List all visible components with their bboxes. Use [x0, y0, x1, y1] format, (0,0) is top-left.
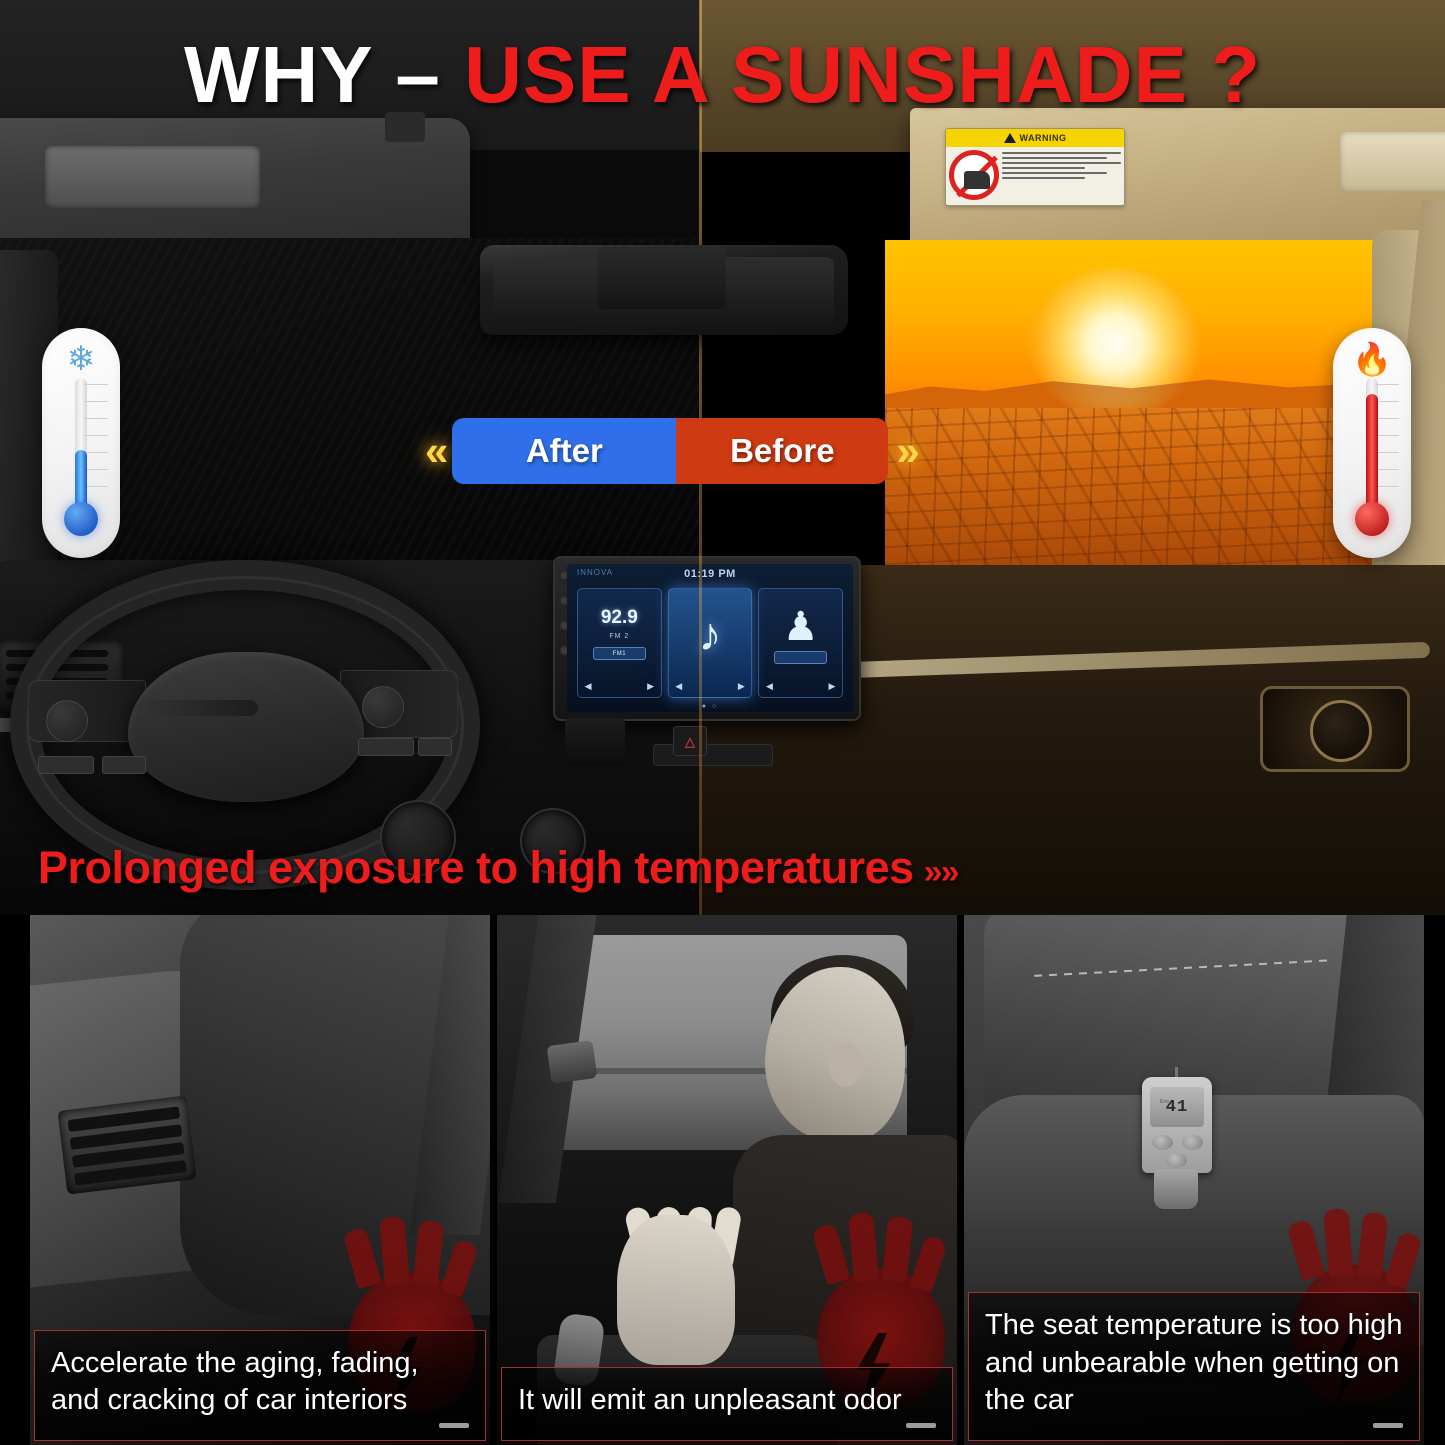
- steering-control-pad-left: [46, 700, 88, 742]
- mid-headline-text: Prolonged exposure to high temperatures: [38, 842, 914, 893]
- media-controls[interactable]: ◀ ▶: [675, 681, 744, 692]
- chevron-left-icon: «: [425, 430, 444, 472]
- mid-headline-arrows-icon: »»: [924, 853, 958, 891]
- radio-seek-controls[interactable]: ◀ ▶: [585, 681, 654, 692]
- radio-band: FM 2: [578, 633, 661, 640]
- infotainment-status-bar: 01:19 PM: [567, 564, 853, 584]
- panel-interior-aging: Accelerate the aging, fading, and cracki…: [30, 915, 490, 1445]
- page-title: WHY – USE A SUNSHADE ?: [0, 0, 1445, 150]
- radio-next-icon[interactable]: ▶: [647, 681, 654, 692]
- air-vent-right-inner: [1310, 700, 1372, 762]
- panel-3-caption: The seat temperature is too high and unb…: [985, 1307, 1403, 1420]
- steering-control-pad-right: [362, 686, 404, 728]
- person-hand-2: [617, 1215, 735, 1365]
- cold-thermometer-bulb: [64, 502, 98, 536]
- hot-thermometer: 🔥: [1333, 328, 1411, 558]
- person-ear-2: [829, 1043, 863, 1087]
- warning-label-body: [946, 147, 1124, 203]
- steering-button-b: [102, 756, 146, 774]
- mid-headline: Prolonged exposure to high temperatures»…: [38, 842, 957, 894]
- hot-thermometer-fill: [1366, 394, 1378, 516]
- infotainment-screen[interactable]: INNOVA 01:19 PM 92.9 FM 2 FM1 ◀ ▶: [567, 564, 853, 712]
- profile-tile[interactable]: ♟ ◀ ▶: [758, 588, 843, 698]
- thermometer-button-2[interactable]: [1182, 1135, 1203, 1150]
- cold-thermometer: ❄: [42, 328, 120, 558]
- steering-button-a: [38, 756, 94, 774]
- steering-button-d: [418, 738, 452, 756]
- no-child-seat-icon: [949, 150, 999, 200]
- thermometer-grip: [1154, 1169, 1198, 1209]
- caption-dash-2: [906, 1423, 936, 1428]
- warning-label-text-lines: [1002, 150, 1121, 200]
- panel-1-caption-box: Accelerate the aging, fading, and cracki…: [34, 1330, 486, 1441]
- steering-button-c: [358, 738, 414, 756]
- snowflake-icon: ❄: [42, 342, 120, 376]
- caption-dash-1: [439, 1423, 469, 1428]
- rearview-mirror: [480, 245, 848, 335]
- radio-preset-chip[interactable]: FM1: [593, 647, 646, 660]
- radio-tile[interactable]: 92.9 FM 2 FM1 ◀ ▶: [577, 588, 662, 698]
- infrared-thermometer: Emi 41: [1142, 1077, 1212, 1197]
- profile-next-icon[interactable]: ▶: [828, 681, 835, 692]
- page-title-white: WHY –: [184, 30, 441, 119]
- console-mount: [565, 718, 625, 766]
- turn-signal-stalk: [138, 700, 258, 716]
- consequence-panels: Accelerate the aging, fading, and cracki…: [0, 915, 1445, 1445]
- visor-mirror-left: [45, 146, 260, 208]
- infographic-page: WARNING: [0, 0, 1445, 1445]
- hot-thermometer-bulb: [1355, 502, 1389, 536]
- before-label: Before: [676, 418, 888, 484]
- media-next-icon[interactable]: ▶: [738, 681, 745, 692]
- panel-unpleasant-odor: It will emit an unpleasant odor: [497, 915, 957, 1445]
- thermometer-body: Emi 41: [1142, 1077, 1212, 1173]
- thermometer-button-1[interactable]: [1152, 1135, 1173, 1150]
- rearview-mirror-housing: [598, 247, 726, 309]
- flame-icon: 🔥: [1333, 342, 1411, 376]
- radio-frequency: 92.9: [578, 607, 661, 629]
- console-control-row[interactable]: [653, 744, 773, 766]
- page-indicator-dots: ● ○: [567, 703, 853, 710]
- page-title-red: USE A SUNSHADE ?: [464, 30, 1261, 119]
- thermometer-display: Emi 41: [1150, 1087, 1204, 1127]
- panel-2-photo: [497, 915, 957, 1445]
- profile-prev-icon[interactable]: ◀: [766, 681, 773, 692]
- panel-seat-temperature: Emi 41 The se: [964, 915, 1424, 1445]
- panel-2-caption-box: It will emit an unpleasant odor: [501, 1367, 953, 1441]
- steering-wheel-hub: [128, 652, 364, 802]
- hero-comparison-image: WARNING: [0, 0, 1445, 915]
- media-tile[interactable]: ♪ ◀ ▶: [668, 588, 753, 698]
- media-prev-icon[interactable]: ◀: [675, 681, 682, 692]
- panel-3-caption-box: The seat temperature is too high and unb…: [968, 1292, 1420, 1441]
- person-icon: ♟: [759, 605, 842, 649]
- side-mirror-2: [547, 1040, 598, 1084]
- thermometer-reading: 41: [1166, 1098, 1188, 1117]
- after-label: After: [452, 418, 676, 484]
- thermometer-button-3[interactable]: [1166, 1153, 1187, 1168]
- air-vent-1: [57, 1095, 196, 1194]
- radio-prev-icon[interactable]: ◀: [585, 681, 592, 692]
- infotainment-tiles: 92.9 FM 2 FM1 ◀ ▶ ♪ ◀ ▶: [577, 588, 843, 698]
- caption-dash-3: [1373, 1423, 1403, 1428]
- panel-1-caption: Accelerate the aging, fading, and cracki…: [51, 1345, 469, 1420]
- profile-chip[interactable]: [774, 651, 827, 664]
- infotainment-clock: 01:19 PM: [684, 568, 736, 580]
- profile-controls[interactable]: ◀ ▶: [766, 681, 835, 692]
- music-note-icon: ♪: [669, 611, 752, 657]
- panel-2-caption: It will emit an unpleasant odor: [518, 1382, 936, 1420]
- after-before-banner: « After Before »: [425, 418, 916, 484]
- chevron-right-icon: »: [896, 430, 915, 472]
